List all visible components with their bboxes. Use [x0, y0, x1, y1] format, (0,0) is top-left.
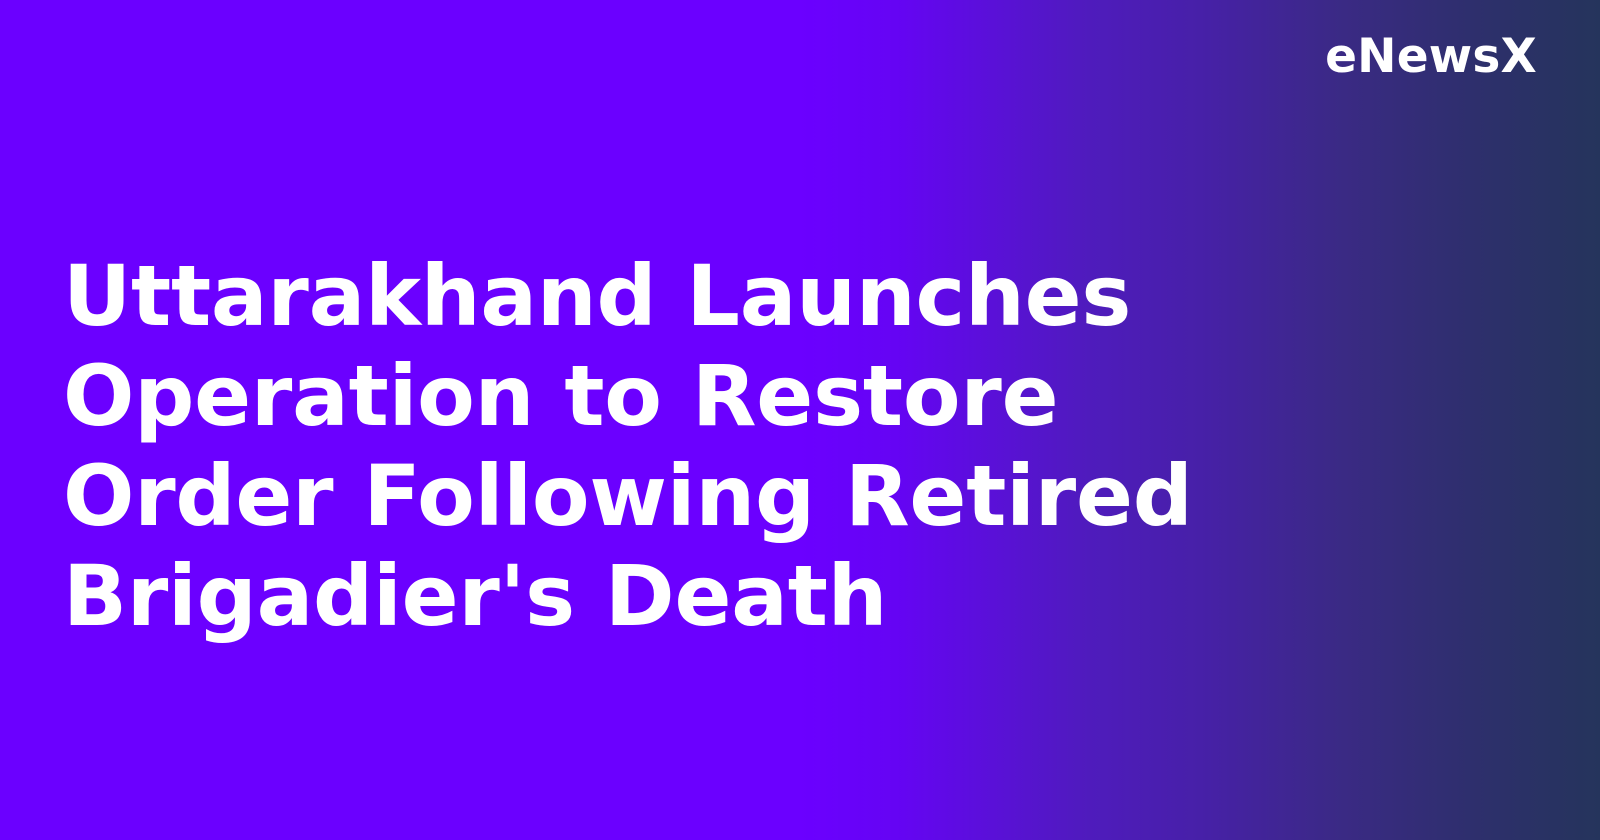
news-headline-card: eNewsX Uttarakhand Launches Operation to… [0, 0, 1600, 840]
brand-logo[interactable]: eNewsX [1325, 28, 1537, 85]
headline-container: Uttarakhand Launches Operation to Restor… [63, 246, 1455, 646]
article-headline: Uttarakhand Launches Operation to Restor… [63, 246, 1455, 646]
